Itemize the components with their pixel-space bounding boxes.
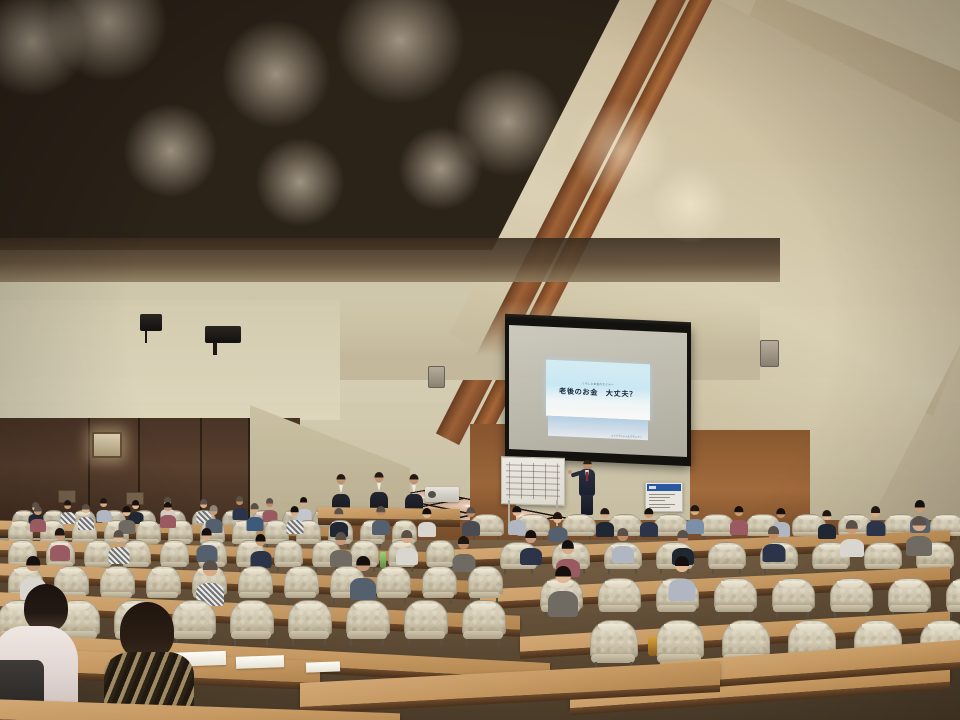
attendee <box>108 530 129 561</box>
attendee <box>818 510 836 536</box>
audience-chair <box>830 578 871 618</box>
speaker-right-wall <box>760 340 779 367</box>
screen-surface: くらしとお金のセミナー 老後のお金 大丈夫？ ファイナンシャルプランナー <box>509 325 687 457</box>
ceiling-light-glow <box>221 19 331 129</box>
attendee-head <box>768 526 780 539</box>
attendee <box>462 507 480 533</box>
attendee-head <box>334 508 343 518</box>
chair-legs <box>504 569 533 574</box>
attendee-torso <box>866 521 885 536</box>
attendee-torso <box>668 579 695 602</box>
attendee-head <box>113 530 124 542</box>
chair-legs <box>473 536 499 540</box>
attendee <box>250 534 271 565</box>
chair-legs <box>408 639 441 646</box>
attendee <box>232 496 247 518</box>
handout-paper <box>236 655 284 669</box>
attendee-head <box>525 530 536 543</box>
speaker-back-wall <box>428 366 445 388</box>
attendee <box>262 498 277 520</box>
ceiling-light-glow <box>48 0 168 82</box>
attendee-head <box>122 506 131 516</box>
attendee-head <box>300 497 308 506</box>
attendee-head <box>335 532 346 545</box>
attendee <box>396 530 418 562</box>
attendee-torso <box>396 548 418 566</box>
attendee <box>205 505 222 530</box>
presenter-hand <box>568 470 572 474</box>
panelist-shirt <box>412 485 416 492</box>
audience-chair <box>422 566 455 604</box>
attendee-torso <box>286 520 303 534</box>
attendee <box>730 506 748 532</box>
audience-chair <box>346 600 388 646</box>
panelist-head <box>375 472 384 482</box>
audience-chair <box>284 566 317 604</box>
chair-back-notch <box>819 545 842 550</box>
attendee <box>30 506 46 530</box>
tabletop-projector <box>425 487 459 502</box>
slide-footer-band: ファイナンシャルプランナー <box>548 416 648 440</box>
attendee <box>668 556 695 597</box>
attendee-torso <box>730 520 748 534</box>
panelist-shirt <box>377 483 381 490</box>
attendee-head <box>512 506 521 516</box>
panelist-head <box>337 474 346 484</box>
attendee-torso <box>160 515 176 528</box>
presenter-tie <box>586 472 588 481</box>
speaker-left-1 <box>140 314 162 331</box>
attendee <box>418 508 436 534</box>
attendee-torso <box>520 548 542 566</box>
chair-legs <box>466 639 499 646</box>
panelist <box>405 474 423 510</box>
attendee <box>196 560 224 602</box>
attendee-head <box>912 516 926 531</box>
chair-legs <box>350 639 383 646</box>
attendee-head <box>600 508 609 518</box>
presenter-legs <box>581 495 593 515</box>
attendee <box>612 528 634 560</box>
audience-chair <box>238 566 271 604</box>
attendee-head <box>677 530 688 543</box>
chair-legs <box>660 612 692 618</box>
chair-legs <box>764 569 793 574</box>
attendee-head <box>734 506 743 516</box>
attendee-head <box>290 506 299 516</box>
attendee-head <box>255 534 266 546</box>
attendee <box>330 508 348 534</box>
chair-back-notch <box>715 545 738 550</box>
attendee <box>762 526 785 559</box>
ceiling-edge-shadow <box>0 238 780 282</box>
slide-footer-note: ファイナンシャルプランナー <box>611 433 642 438</box>
attendee-head <box>674 556 688 572</box>
lecture-hall-photo: くらしとお金のセミナー 老後のお金 大丈夫？ ファイナンシャルプランナー <box>0 0 960 720</box>
attendee-head <box>871 506 881 517</box>
attendee-head <box>64 500 72 509</box>
attendee <box>350 556 376 596</box>
audience-chair <box>468 566 501 604</box>
attendee <box>246 503 263 528</box>
foreground-attendee-head <box>24 584 68 632</box>
panelist-shirt <box>339 485 343 492</box>
audience-chair <box>708 542 744 574</box>
attendee-head <box>776 508 785 518</box>
attendee-head <box>466 507 475 517</box>
attendee-head <box>356 556 370 571</box>
attendee <box>452 536 475 569</box>
drink-bottle <box>648 636 657 656</box>
attendee-head <box>562 540 574 554</box>
attendee-head <box>203 560 218 576</box>
ceiling-light-glow <box>335 0 465 105</box>
audience-chair <box>700 514 732 540</box>
attendee-torso <box>840 539 864 558</box>
attendee-torso <box>372 520 390 534</box>
attendee-torso <box>232 508 247 520</box>
attendee-head <box>34 506 42 515</box>
poster-header-band <box>647 484 681 491</box>
attendee-head <box>164 502 172 511</box>
attendee <box>548 512 567 539</box>
chair-legs <box>292 639 325 646</box>
attendee-torso <box>350 578 376 600</box>
foreground-attendee-center <box>104 602 190 720</box>
attendee-head <box>55 528 65 540</box>
attendee <box>50 528 70 558</box>
chair-legs <box>718 612 750 618</box>
attendee-torso <box>640 522 658 536</box>
slide-title: 老後のお金 大丈夫？ <box>559 387 637 401</box>
slide-subtitle: くらしとお金のセミナー <box>582 381 614 387</box>
attendee <box>118 506 135 531</box>
audience-chair <box>772 578 813 618</box>
audience-chair <box>714 578 755 618</box>
attendee-head <box>100 498 108 507</box>
chair-legs <box>234 639 267 646</box>
audience-chair <box>230 600 272 646</box>
attendee <box>196 528 217 559</box>
attendee-torso <box>462 521 480 535</box>
panelist-head <box>410 474 419 484</box>
audience-chair <box>288 600 330 646</box>
attendee-torso <box>818 524 836 538</box>
attendee-head <box>915 500 925 512</box>
attendee-head <box>209 505 218 515</box>
attendee-torso <box>30 519 46 532</box>
panelist <box>370 472 388 508</box>
attendee-head <box>458 536 470 549</box>
attendee-head <box>26 556 40 571</box>
handout-paper <box>306 661 340 672</box>
attendee-head <box>82 504 90 513</box>
chair-legs <box>602 612 634 618</box>
chair-legs <box>776 612 808 618</box>
attendee-head <box>376 506 385 516</box>
attendee-torso <box>418 522 436 536</box>
attendee-torso <box>762 544 785 562</box>
audience-chair <box>590 620 636 670</box>
attendee <box>840 520 864 554</box>
attendee-torso <box>108 547 129 564</box>
attendee <box>60 500 75 522</box>
attendee-head <box>422 508 431 518</box>
wall-sconce <box>92 432 122 458</box>
attendee <box>78 504 94 528</box>
projection-screen: くらしとお金のセミナー 老後のお金 大丈夫？ ファイナンシャルプランナー <box>505 318 691 466</box>
attendee <box>520 530 542 562</box>
attendee-head <box>644 508 653 518</box>
audience-chair <box>598 578 639 618</box>
attendee-head <box>553 512 563 523</box>
attendee <box>160 502 176 526</box>
attendee <box>372 506 390 532</box>
panelist <box>332 474 350 510</box>
ceiling-light-glow <box>123 103 218 198</box>
attendee-head <box>201 528 212 540</box>
attendee-torso <box>246 517 263 531</box>
chair-legs <box>712 569 741 574</box>
ceiling-light-glow <box>0 0 87 97</box>
speaker-left-2 <box>205 326 241 343</box>
attendee-head <box>555 566 571 583</box>
presenter <box>576 460 598 515</box>
attendee-head <box>266 498 274 507</box>
attendee <box>640 508 658 534</box>
attendee <box>686 505 704 531</box>
chair-legs <box>608 569 637 574</box>
audience-chair <box>376 566 409 604</box>
attendee-head <box>846 520 858 534</box>
chair-back-notch <box>871 545 894 550</box>
attendee-torso <box>612 546 634 564</box>
attendee <box>286 506 303 531</box>
attendee <box>866 506 885 533</box>
attendee <box>330 532 352 564</box>
attendee <box>508 506 526 532</box>
attendee-torso <box>78 517 94 530</box>
attendee-torso <box>906 536 932 556</box>
audience-chair <box>462 600 504 646</box>
attendee-torso <box>330 550 352 568</box>
ceiling-light-glow <box>255 137 345 227</box>
attendee-torso <box>50 545 70 562</box>
whiteboard-grid <box>506 462 560 499</box>
left-upper-wall <box>0 300 340 420</box>
attendee-head <box>250 503 259 513</box>
attendee-head <box>617 528 628 541</box>
attendee-head <box>236 496 244 505</box>
attendee-head <box>690 505 699 515</box>
attendee <box>96 498 111 520</box>
attendee <box>906 516 932 552</box>
whiteboard <box>501 456 565 506</box>
chair-legs <box>950 612 960 618</box>
attendee <box>548 566 578 612</box>
attendee-head <box>822 510 831 520</box>
projected-slide: くらしとお金のセミナー 老後のお金 大丈夫？ <box>546 360 649 420</box>
attendee-torso <box>548 591 578 616</box>
audience-chair <box>404 600 446 646</box>
attendee-head <box>401 530 412 543</box>
ceiling-light-glow <box>398 126 483 211</box>
